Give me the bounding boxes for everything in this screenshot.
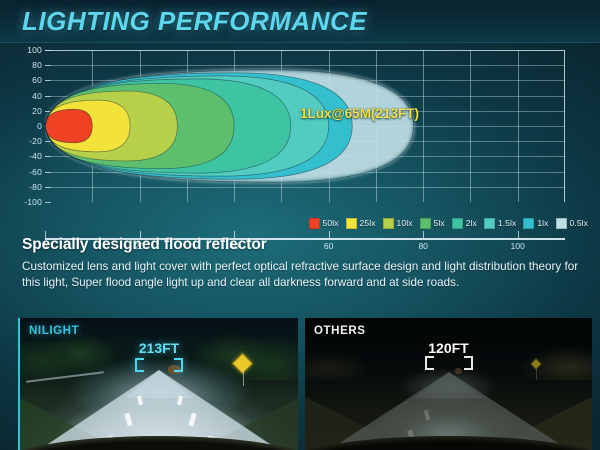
legend-swatch-25lx — [346, 218, 357, 229]
legend-label: 10lx — [397, 218, 413, 228]
sign-post — [243, 370, 245, 386]
legend-item: 25lx — [346, 218, 376, 229]
bracket-left-icon — [135, 358, 144, 372]
bracket-left-icon — [425, 356, 434, 370]
legend-item: 2lx — [452, 218, 477, 229]
page-title: LIGHTING PERFORMANCE — [22, 6, 367, 37]
panel-label-others: OTHERS — [314, 325, 366, 337]
legend-swatch-1.5lx — [484, 218, 495, 229]
legend-label: 1lx — [537, 218, 548, 228]
y-axis-tick-labels: 100806040200-20-40-60-80-100 — [0, 43, 42, 218]
legend-label: 2lx — [466, 218, 477, 228]
legend-label: 5lx — [434, 218, 445, 228]
legend-swatch-2lx — [452, 218, 463, 229]
distance-bracket-marker — [425, 356, 473, 372]
legend-item: 10lx — [383, 218, 413, 229]
beam-pattern-chart: 100806040200-20-40-60-80-100 02040608010… — [0, 43, 600, 218]
lux-legend: 50lx25lx10lx5lx2lx1.5lx1lx0.5lx — [0, 214, 600, 232]
legend-swatch-50lx — [309, 218, 320, 229]
y-tick-label: -100 — [4, 197, 42, 207]
bracket-right-icon — [464, 356, 473, 370]
plot-area — [45, 50, 565, 202]
header-bar: LIGHTING PERFORMANCE — [0, 0, 600, 43]
night-road-photo-nilight — [20, 318, 298, 450]
legend-item: 1.5lx — [484, 218, 516, 229]
comparison-panel-others: OTHERS 120FT — [305, 318, 592, 450]
legend-item: 0.5lx — [556, 218, 588, 229]
legend-label: 50lx — [323, 218, 339, 228]
y-tick-label: -60 — [4, 167, 42, 177]
y-tick-label: 80 — [4, 60, 42, 70]
panel-distance-others: 120FT — [428, 340, 468, 356]
y-tick-label: -80 — [4, 182, 42, 192]
y-tick-label: 100 — [4, 45, 42, 55]
bracket-right-icon — [174, 358, 183, 372]
night-road-photo-others — [305, 318, 592, 450]
y-tick-label: -40 — [4, 151, 42, 161]
y-tick-label: 40 — [4, 91, 42, 101]
legend-swatch-0.5lx — [556, 218, 567, 229]
y-tick-mark — [45, 202, 51, 203]
description-body: Customized lens and light cover with per… — [22, 259, 582, 290]
beam-contour-plot — [45, 50, 565, 202]
legend-item: 50lx — [309, 218, 339, 229]
panel-distance-nilight: 213FT — [139, 340, 179, 356]
legend-item: 1lx — [523, 218, 548, 229]
description-block: Specially designed flood reflector Custo… — [22, 236, 582, 290]
y-tick-label: 60 — [4, 75, 42, 85]
distance-bracket-marker — [135, 358, 183, 374]
legend-swatch-10lx — [383, 218, 394, 229]
legend-item: 5lx — [420, 218, 445, 229]
legend-label: 0.5lx — [570, 218, 588, 228]
y-tick-label: 20 — [4, 106, 42, 116]
y-tick-label: -20 — [4, 136, 42, 146]
legend-swatch-1lx — [523, 218, 534, 229]
legend-label: 25lx — [360, 218, 376, 228]
sign-post — [536, 368, 538, 380]
lighting-performance-infographic: LIGHTING PERFORMANCE 100806040200-20-40-… — [0, 0, 600, 450]
legend-swatch-5lx — [420, 218, 431, 229]
beam-distance-annotation: 1Lux@65M(213FT) — [300, 106, 419, 121]
description-heading: Specially designed flood reflector — [22, 236, 582, 254]
comparison-panel-nilight: NILIGHT 213FT — [18, 318, 298, 450]
y-tick-label: 0 — [4, 121, 42, 131]
panel-label-nilight: NILIGHT — [29, 325, 79, 337]
legend-label: 1.5lx — [498, 218, 516, 228]
